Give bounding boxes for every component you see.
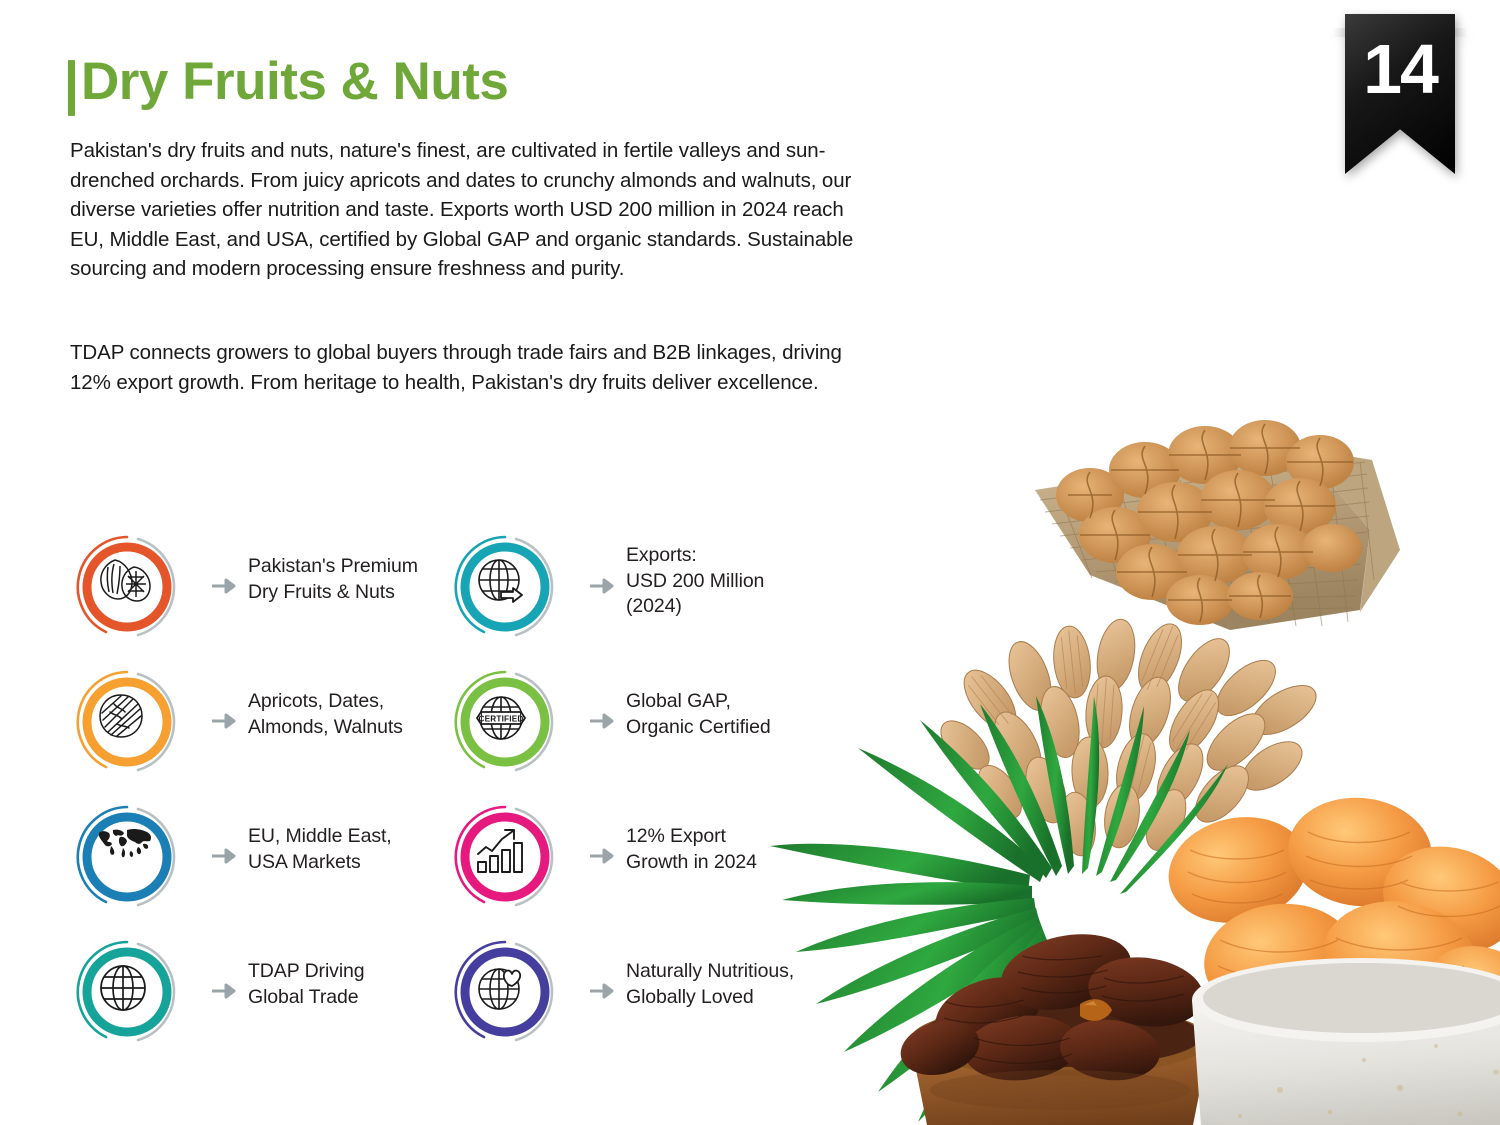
world-map-icon <box>97 827 157 887</box>
intro-paragraph: Pakistan's dry fruits and nuts, nature's… <box>70 136 860 284</box>
slide-page: Dry Fruits & Nuts Pakistan's dry fruits … <box>0 0 1500 1125</box>
globe-icon <box>97 962 157 1022</box>
nuts-icon-badge <box>68 528 186 646</box>
page-number-text: 14 <box>1363 34 1437 104</box>
feature-item-markets[interactable]: EU, Middle East, USA Markets <box>62 798 422 916</box>
page-title-text: Dry Fruits & Nuts <box>81 52 508 112</box>
growth-chart-icon <box>475 827 535 887</box>
globe-icon-badge <box>68 933 186 1051</box>
feature-item-growth[interactable]: 12% Export Growth in 2024 <box>440 798 800 916</box>
feature-item-nutritious[interactable]: Naturally Nutritious, Globally Loved <box>440 933 800 1051</box>
arrow-right-icon <box>590 711 618 731</box>
certified-badge-icon-badge: CERTIFIED <box>446 663 564 781</box>
world-map-icon-badge <box>68 798 186 916</box>
feature-item-exports[interactable]: Exports: USD 200 Million (2024) <box>440 528 800 646</box>
arrow-right-icon <box>590 846 618 866</box>
svg-text:CERTIFIED: CERTIFIED <box>478 715 523 724</box>
title-accent-bar <box>68 60 75 116</box>
growth-chart-icon-badge <box>446 798 564 916</box>
arrow-right-icon <box>212 846 240 866</box>
arrow-right-icon <box>590 576 618 596</box>
feature-list: Pakistan's Premium Dry Fruits & Nuts <box>62 528 802 1068</box>
arrow-right-icon <box>212 711 240 731</box>
feature-item-tdap[interactable]: TDAP Driving Global Trade <box>62 933 422 1051</box>
walnut-icon-badge <box>68 663 186 781</box>
page-title: Dry Fruits & Nuts <box>68 52 508 116</box>
dry-fruits-photo <box>760 400 1500 1125</box>
feature-item-certified[interactable]: CERTIFIED Global GAP, Organic Certified <box>440 663 800 781</box>
globe-heart-icon-badge <box>446 933 564 1051</box>
certified-badge-icon: CERTIFIED <box>475 692 535 752</box>
feature-item-varieties[interactable]: Apricots, Dates, Almonds, Walnuts <box>62 663 422 781</box>
ribbon-shape: 14 <box>1345 14 1455 174</box>
arrow-right-icon <box>590 981 618 1001</box>
dry-fruits-illustration <box>760 400 1500 1125</box>
arrow-right-icon <box>212 981 240 1001</box>
tdap-paragraph: TDAP connects growers to global buyers t… <box>70 338 860 397</box>
globe-heart-icon <box>475 962 535 1022</box>
white-bowl-of-dried-apricots <box>1159 791 1500 1125</box>
walnut-icon <box>97 692 157 752</box>
feature-item-premium[interactable]: Pakistan's Premium Dry Fruits & Nuts <box>62 528 422 646</box>
nuts-icon <box>97 557 157 617</box>
page-number-ribbon: 14 <box>1345 14 1455 174</box>
arrow-right-icon <box>212 576 240 596</box>
globe-export-arrow-icon <box>475 557 535 617</box>
globe-export-arrow-icon-badge <box>446 528 564 646</box>
